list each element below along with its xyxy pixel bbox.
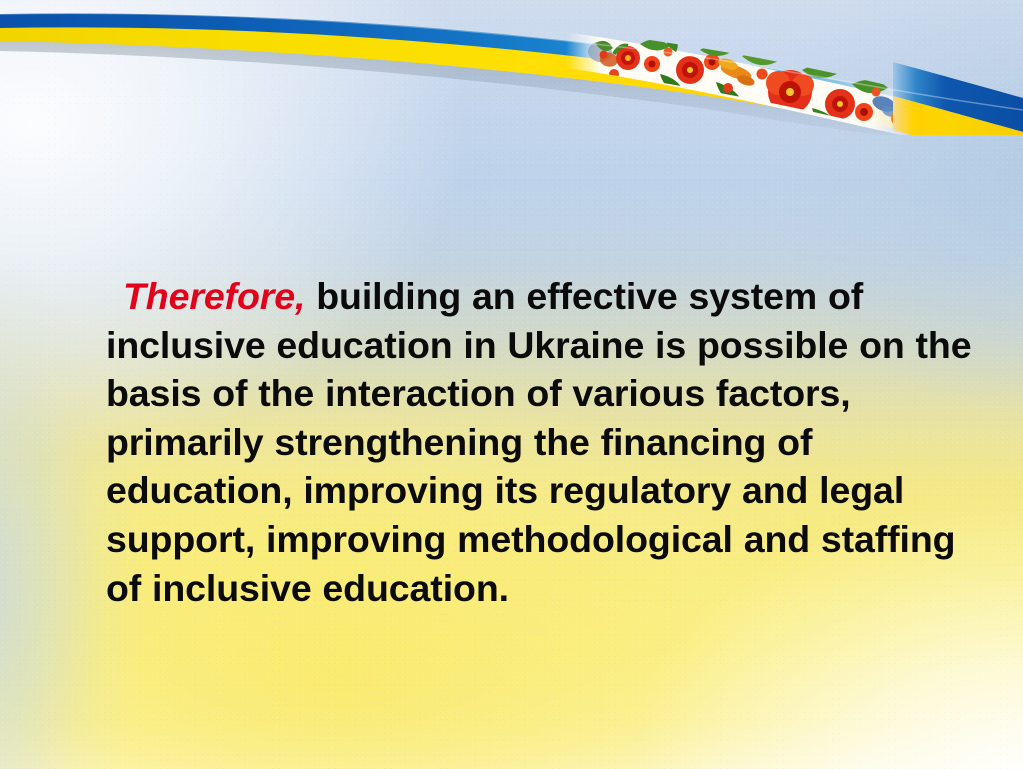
- small-bud: [817, 115, 827, 125]
- body-paragraph-text: building an effective system of inclusiv…: [106, 275, 982, 609]
- leaf: [716, 82, 742, 102]
- leaf: [700, 44, 734, 56]
- small-bud: [757, 69, 768, 80]
- leaf: [802, 64, 840, 78]
- leaf: [812, 108, 842, 130]
- slide-body-text: Therefore, building an effective system …: [106, 272, 986, 612]
- leaf: [770, 116, 796, 135]
- presentation-slide: Therefore, building an effective system …: [0, 0, 1023, 769]
- ribbon-embroidery-band: [566, 32, 922, 135]
- orange-bud: [891, 109, 909, 127]
- flag-blue-field: [893, 62, 1023, 132]
- small-bud: [664, 48, 673, 57]
- flag-yellow-field: [893, 96, 1023, 135]
- floral-embroidery-motif: [586, 34, 909, 135]
- leaf: [742, 52, 780, 65]
- small-bud: [872, 88, 881, 97]
- ribbon-right-flag-segment: [893, 30, 1023, 135]
- lead-in-text: Therefore,: [106, 275, 305, 317]
- wheat-sprig: [714, 56, 759, 87]
- ribbon-blue-band: [0, 13, 1023, 133]
- leaf: [852, 80, 888, 93]
- small-bud: [609, 69, 619, 79]
- ribbon-yellow-band: [0, 27, 1023, 135]
- ukrainian-flag-floral-ribbon: [0, 0, 1023, 135]
- leaf: [666, 34, 678, 52]
- small-bud: [723, 83, 733, 93]
- leaf: [640, 39, 670, 50]
- ribbon-gloss-edge: [0, 13, 1023, 110]
- leaf: [660, 74, 684, 92]
- ribbon-shadow: [0, 40, 1023, 135]
- blue-bud: [869, 93, 901, 119]
